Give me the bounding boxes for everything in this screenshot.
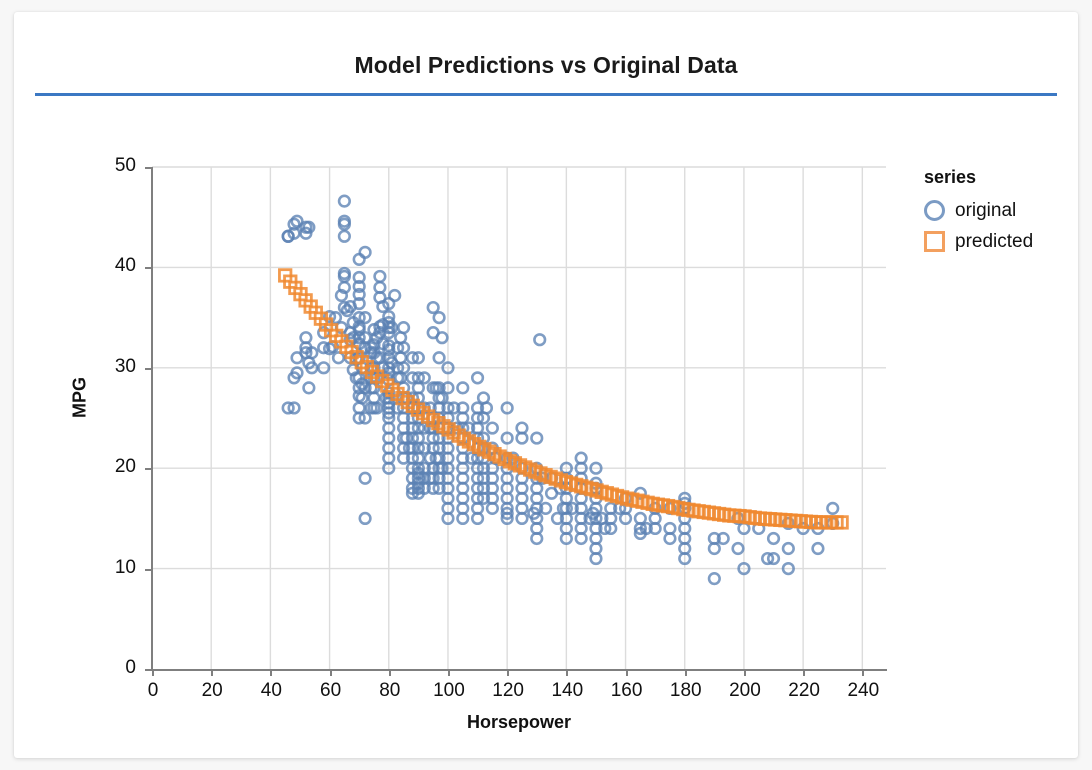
- scatter-point: [457, 383, 468, 394]
- legend: series original predicted: [924, 167, 1074, 257]
- y-tick-mark: [145, 468, 152, 470]
- scatter-point: [434, 352, 445, 363]
- x-tick-mark: [507, 669, 509, 676]
- x-axis-label: Horsepower: [138, 712, 900, 733]
- x-tick-mark: [685, 669, 687, 676]
- scatter-point: [304, 383, 315, 394]
- x-tick-label: 240: [833, 680, 893, 702]
- y-tick-label: 20: [82, 456, 136, 478]
- chart-card: Model Predictions vs Original Data 02040…: [14, 12, 1078, 758]
- x-tick-label: 200: [715, 680, 775, 702]
- x-tick-mark: [211, 669, 213, 676]
- scatter-point: [739, 563, 750, 574]
- legend-item-predicted[interactable]: predicted: [924, 226, 1074, 257]
- x-tick-label: 100: [419, 680, 479, 702]
- x-tick-mark: [389, 669, 391, 676]
- scatter-point: [709, 573, 720, 584]
- scatter-point: [339, 196, 350, 207]
- x-tick-label: 40: [241, 680, 301, 702]
- scatter-point: [827, 503, 838, 514]
- scatter-point: [360, 513, 371, 524]
- x-tick-label: 220: [774, 680, 834, 702]
- scatter-point: [360, 247, 371, 258]
- y-tick-mark: [145, 669, 152, 671]
- x-axis-line: [152, 669, 887, 671]
- scatter-point: [783, 543, 794, 554]
- scatter-point: [398, 322, 409, 333]
- screenshot-root: Model Predictions vs Original Data 02040…: [0, 0, 1092, 770]
- y-axis-label: MPG: [70, 338, 91, 458]
- y-tick-label: 50: [82, 155, 136, 177]
- x-tick-label: 180: [656, 680, 716, 702]
- scatter-point: [531, 433, 542, 444]
- y-tick-mark: [145, 267, 152, 269]
- y-axis-line: [151, 167, 153, 670]
- plot-area: [152, 167, 886, 669]
- y-tick-label: 10: [82, 557, 136, 579]
- scatter-point: [502, 433, 513, 444]
- scatter-point: [783, 563, 794, 574]
- scatter-point: [472, 373, 483, 384]
- scatter-point: [733, 543, 744, 554]
- page-title: Model Predictions vs Original Data: [14, 52, 1078, 79]
- scatter-point: [437, 332, 448, 343]
- x-tick-mark: [803, 669, 805, 676]
- x-tick-mark: [744, 669, 746, 676]
- y-tick-label: 0: [82, 657, 136, 679]
- y-tick-mark: [145, 569, 152, 571]
- legend-marker-square-icon: [924, 231, 945, 252]
- scatter-point: [591, 463, 602, 474]
- y-tick-label: 40: [82, 255, 136, 277]
- scatter-point: [389, 290, 400, 301]
- x-tick-mark: [448, 669, 450, 676]
- x-tick-label: 140: [537, 680, 597, 702]
- legend-item-original[interactable]: original: [924, 195, 1074, 226]
- plot-wrapper: 020406080100120140160180200220240 010203…: [138, 155, 898, 675]
- scatter-point: [443, 363, 454, 374]
- scatter-point: [354, 254, 365, 265]
- legend-label-original: original: [955, 200, 1016, 222]
- legend-title: series: [924, 167, 1074, 188]
- scatter-point: [768, 533, 779, 544]
- scatter-point: [360, 473, 371, 484]
- scatter-point: [428, 302, 439, 313]
- scatter-point: [487, 423, 498, 434]
- scatter-point: [502, 403, 513, 414]
- scatter-point: [739, 523, 750, 534]
- scatter-point: [534, 334, 545, 345]
- x-tick-mark: [270, 669, 272, 676]
- x-tick-label: 20: [182, 680, 242, 702]
- y-tick-mark: [145, 167, 152, 169]
- legend-label-predicted: predicted: [955, 231, 1033, 253]
- x-tick-label: 60: [301, 680, 361, 702]
- title-divider: [35, 93, 1057, 96]
- x-tick-mark: [626, 669, 628, 676]
- scatter-points: [152, 167, 886, 669]
- x-tick-label: 0: [123, 680, 183, 702]
- scatter-point: [318, 363, 329, 374]
- scatter-point: [813, 543, 824, 554]
- scatter-point: [333, 352, 344, 363]
- y-tick-mark: [145, 368, 152, 370]
- x-tick-mark: [152, 669, 154, 676]
- scatter-point: [434, 312, 445, 323]
- scatter-point: [375, 271, 386, 282]
- x-tick-mark: [566, 669, 568, 676]
- scatter-point: [339, 231, 350, 242]
- x-tick-mark: [862, 669, 864, 676]
- x-tick-label: 160: [597, 680, 657, 702]
- legend-marker-circle-icon: [924, 200, 945, 221]
- x-tick-label: 120: [478, 680, 538, 702]
- x-tick-mark: [330, 669, 332, 676]
- x-tick-label: 80: [360, 680, 420, 702]
